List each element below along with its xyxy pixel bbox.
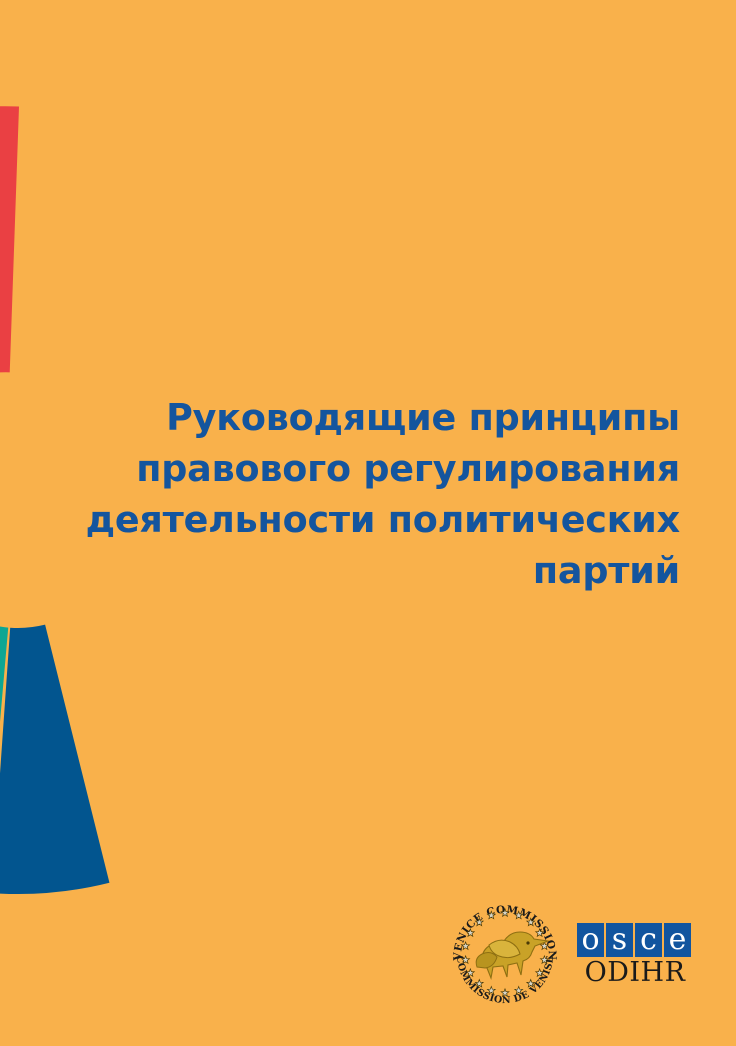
title-line-4: партий <box>60 545 680 596</box>
publication-cover: Руководящие принципы правового регулиров… <box>0 0 736 1046</box>
title-line-3: деятельности политических <box>60 494 680 545</box>
title-line-1: Руководящие принципы <box>60 392 680 443</box>
osce-letter-s: s <box>606 923 633 957</box>
title-line-2: правового регулирования <box>60 443 680 494</box>
logo-row: VENICE COMMISSION COMMISSION DE VENISE o… <box>449 897 694 1009</box>
osce-letter-c: c <box>635 923 662 957</box>
osce-letter-squares: o s c e <box>577 923 695 957</box>
winged-lion-emblem <box>476 932 548 978</box>
osce-subtitle: ODIHR <box>577 958 693 988</box>
cover-title: Руководящие принципы правового регулиров… <box>60 392 680 596</box>
osce-odihr-logo: o s c e ODIHR <box>577 923 695 991</box>
venice-commission-logo: VENICE COMMISSION COMMISSION DE VENISE <box>449 897 561 1009</box>
osce-letter-o: o <box>577 923 604 957</box>
osce-letter-e: e <box>664 923 691 957</box>
